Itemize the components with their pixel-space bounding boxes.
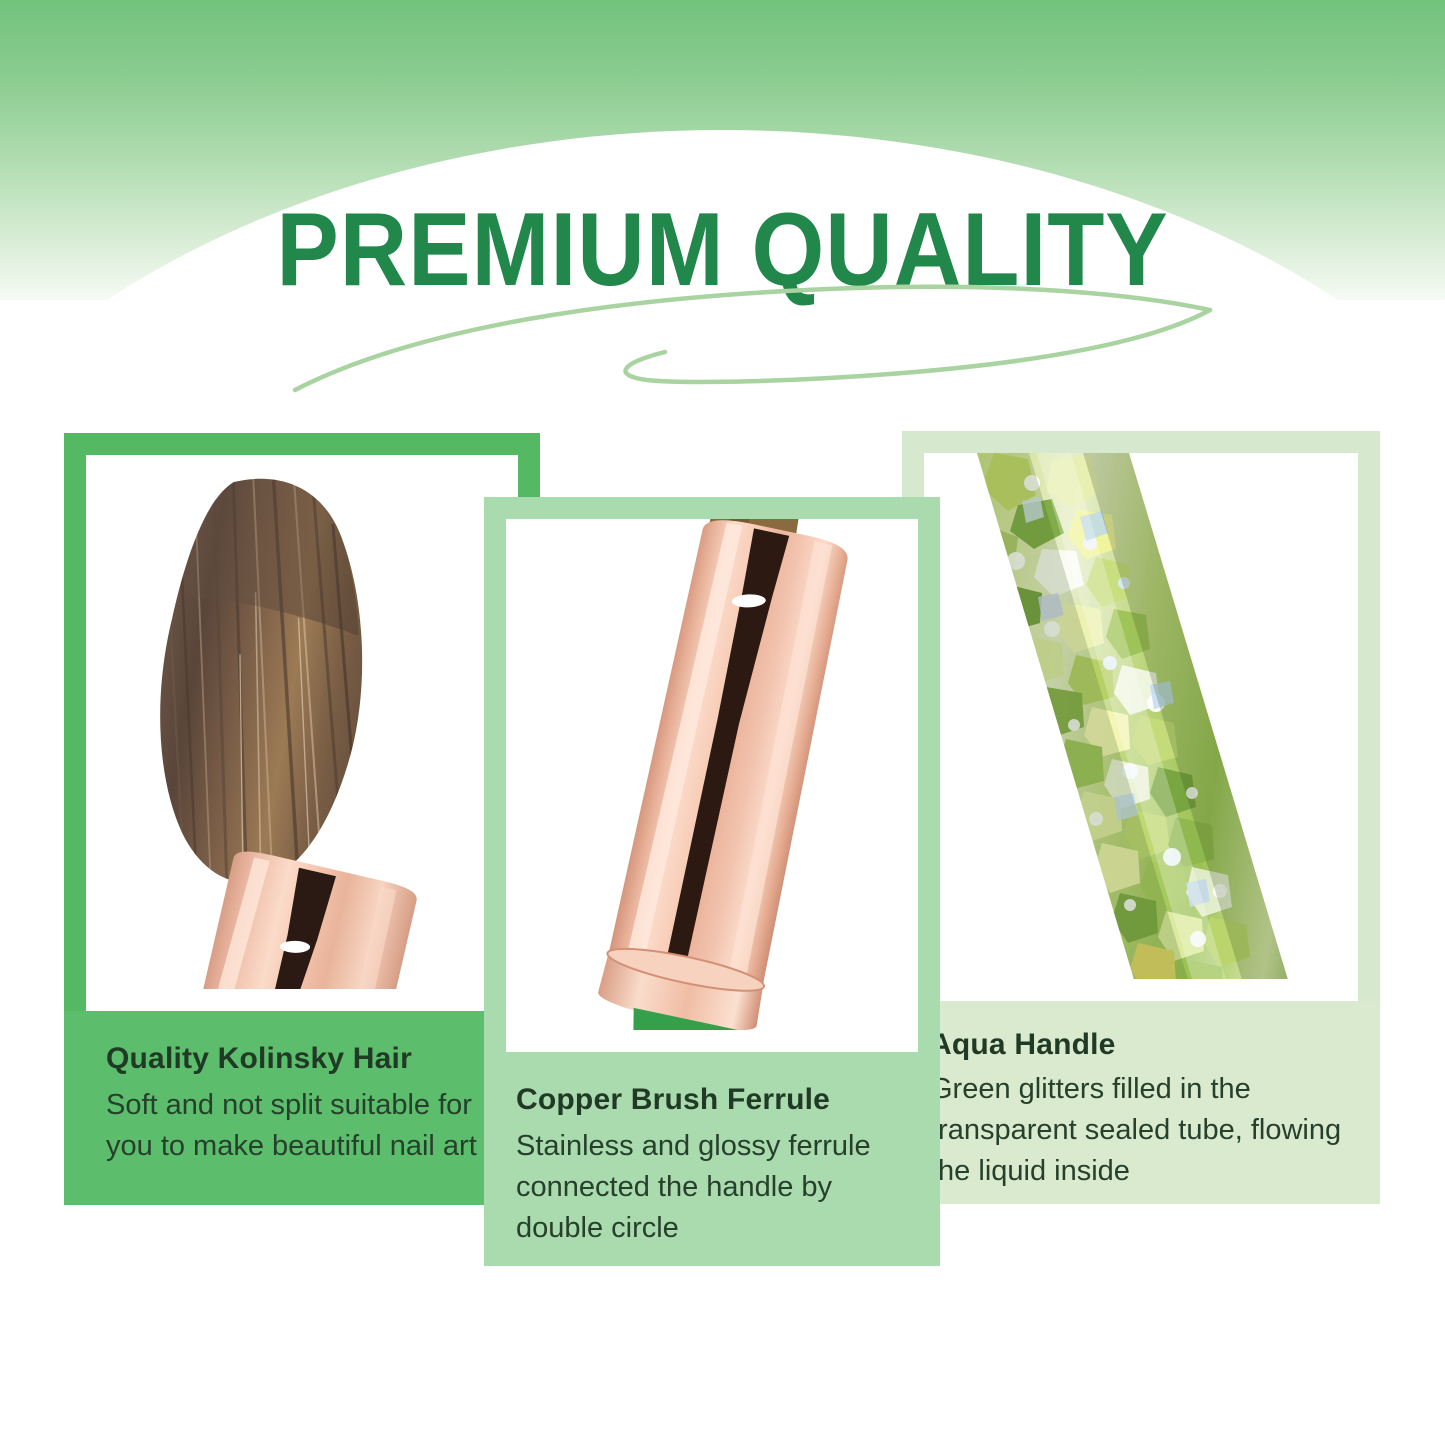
aqua-glitter-handle-photo: [924, 453, 1358, 1001]
card-title: Copper Brush Ferrule: [516, 1080, 908, 1120]
feature-card-aqua-handle: Aqua Handle Green glitters filled in the…: [902, 431, 1380, 1204]
card-description: Stainless and glossy ferrule connected t…: [516, 1120, 908, 1249]
feature-card-copper-brush-ferrule: Copper Brush Ferrule Stainless and gloss…: [484, 497, 940, 1266]
card-title: Aqua Handle: [930, 1025, 1352, 1065]
kolinsky-brush-head-photo: [86, 455, 518, 1011]
card-caption: Quality Kolinsky Hair Soft and not split…: [64, 1011, 540, 1205]
card-description: Green glitters filled in the transparent…: [930, 1065, 1352, 1192]
card-image-frame: [484, 497, 940, 1052]
copper-ferrule-photo: [506, 519, 918, 1052]
card-title: Quality Kolinsky Hair: [106, 1039, 498, 1079]
card-image-frame: [64, 433, 540, 1011]
card-caption: Copper Brush Ferrule Stainless and gloss…: [484, 1052, 940, 1266]
product-feature-infographic: PREMIUM QUALITY: [0, 0, 1445, 1445]
card-caption: Aqua Handle Green glitters filled in the…: [902, 1001, 1380, 1204]
page-title: PREMIUM QUALITY: [72, 196, 1373, 304]
card-image-frame: [902, 431, 1380, 1001]
page-title-area: PREMIUM QUALITY: [0, 196, 1445, 386]
card-description: Soft and not split suitable for you to m…: [106, 1079, 498, 1167]
feature-card-quality-kolinsky-hair: Quality Kolinsky Hair Soft and not split…: [64, 433, 540, 1205]
